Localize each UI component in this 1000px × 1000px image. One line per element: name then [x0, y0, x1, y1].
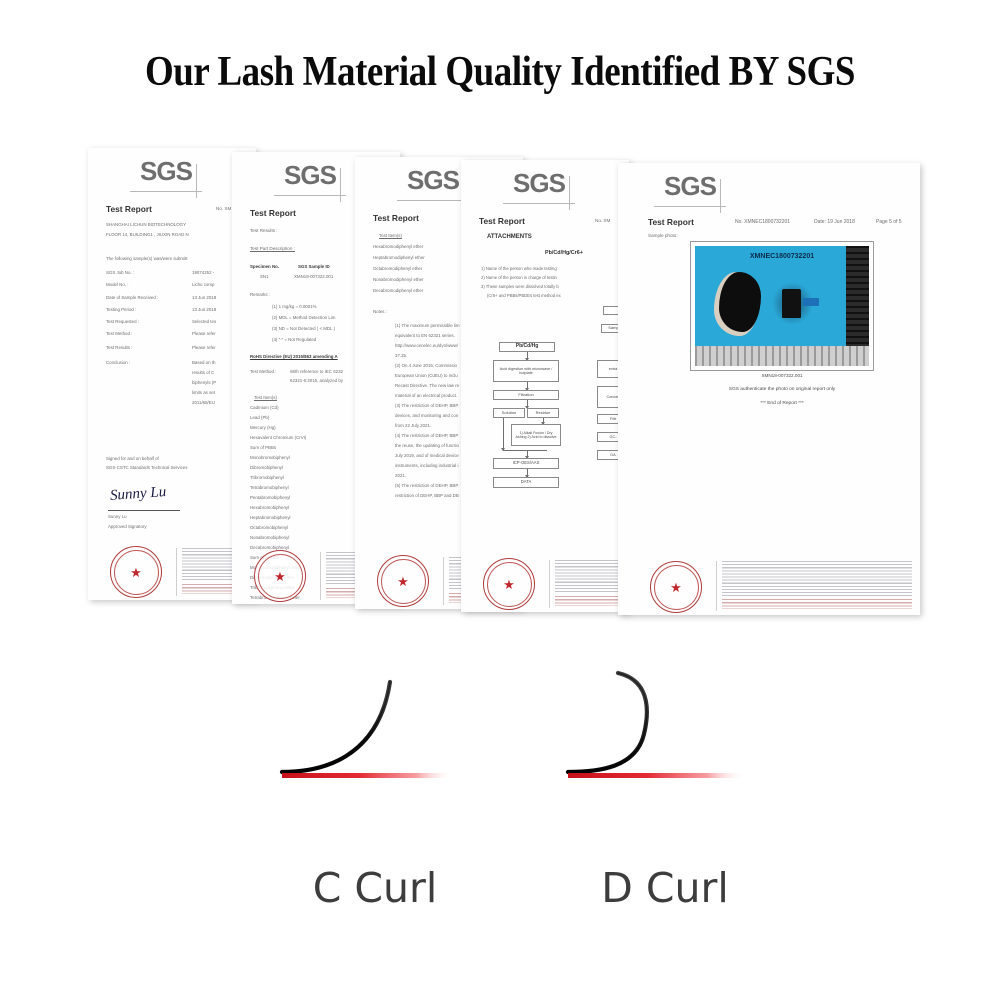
- legal-footer-text: [722, 561, 912, 597]
- test-item: Nonabromodiphenyl ether: [373, 277, 424, 282]
- test-item: Heptabromodiphenyl ether: [373, 255, 425, 260]
- certification-stamp: ★: [650, 561, 702, 613]
- results-label: Test Results :: [250, 228, 278, 233]
- flow-node-icp-oes-aas: ICP-OES/AAS: [493, 458, 559, 469]
- field-label-3: Testing Period :: [106, 307, 136, 312]
- signed-line-1: Signed for and on behalf of: [106, 456, 159, 461]
- sample-photo-frame[interactable]: XMNEC1800732201: [690, 241, 874, 371]
- report-title: Test Report: [648, 217, 694, 227]
- test-item: Tetrabromobiphenyl: [250, 485, 289, 490]
- notes-label: Notes :: [373, 309, 387, 314]
- flow-node-alkali-fusion: 1) Alkali Fusion / Dry Ashing 2) Acid to…: [511, 424, 561, 446]
- sgs-logo-text: SGS: [664, 173, 716, 199]
- note-line: http://www.cenelec.eu/dyn/www/: [395, 343, 458, 348]
- report-number: No. XM: [216, 206, 231, 211]
- field-label-5: Test Method :: [106, 331, 132, 336]
- remark-3: (4) "-" = Not Regulated: [272, 337, 316, 342]
- remark-2: (3) ND = Not Detected ( < MDL ): [272, 326, 335, 331]
- note-line: (4) The restriction of DEHP, BBP: [395, 433, 458, 438]
- certification-stamp: ★: [483, 558, 535, 610]
- conclusion-line-0: results of C: [192, 370, 214, 375]
- field-value-6: Please refer: [192, 345, 216, 350]
- field-value-3: 13 Jun 2018: [192, 307, 216, 312]
- field-value-5: Please refer: [192, 331, 216, 336]
- note-line: 2021.: [395, 473, 406, 478]
- legal-footer-contact: [555, 596, 627, 606]
- test-item: Lead (Pb): [250, 415, 269, 420]
- table-header-1: SGS Sample ID: [298, 264, 330, 269]
- note-line: material of an electrical product.: [395, 393, 457, 398]
- certification-stamp: ★: [110, 546, 162, 598]
- note-line: European Union (OJEU) to inclu: [395, 373, 458, 378]
- note-line: 3) These samples were dissolved totally …: [481, 284, 559, 289]
- table-header-0: Specimen No.: [250, 264, 279, 269]
- lash-tray-sample: [719, 272, 761, 332]
- report-title: Test Report: [250, 208, 296, 218]
- test-items-label: Test Item(s): [379, 233, 402, 238]
- field-label-4: Test Requested :: [106, 319, 139, 324]
- field-label-1: Model No. :: [106, 282, 128, 287]
- test-item: Heptabromobiphenyl: [250, 515, 291, 520]
- legal-footer-text: [555, 560, 627, 594]
- c-curl-lash-svg: [250, 668, 500, 868]
- note-line: 37.25.: [395, 353, 407, 358]
- note-line: the reuse, the updating of functio: [395, 443, 459, 448]
- note-line: 1) Name of the person who made testing: [481, 266, 557, 271]
- test-item: Octabromodiphenyl ether: [373, 266, 422, 271]
- flow-node-data: DATA: [493, 477, 559, 488]
- d-curl-label: D Curl: [540, 864, 790, 912]
- note-line: (1) The maximum permissible lim: [395, 323, 460, 328]
- field-value-4: Selected tes: [192, 319, 216, 324]
- test-item: Decabromodiphenyl ether: [373, 288, 423, 293]
- note-line: from 22 July 2021.: [395, 423, 431, 428]
- c-curl-label: C Curl: [250, 864, 500, 912]
- remark-0: (1) 1 mg/kg = 0.0001%: [272, 304, 317, 309]
- conclusion-line-3: 2011/65/EU: [192, 400, 215, 405]
- company-line-2: FLOOR 14, BUILDING1 , JIUXIN ROAD N: [106, 232, 189, 237]
- sgs-logo-text: SGS: [407, 167, 459, 193]
- test-item: Pentabromobiphenyl: [250, 495, 290, 500]
- end-of-report-note: *** End of Report ***: [674, 401, 890, 406]
- note-line: Recast Directive. The new law re: [395, 383, 459, 388]
- test-item: Dibromobiphenyl: [250, 465, 283, 470]
- sgs-logo-text: SGS: [140, 158, 192, 184]
- d-curl-lash-svg: [540, 668, 790, 868]
- note-line: (5) The restriction of DEHP, BBP: [395, 483, 458, 488]
- sample-photo-label: Sample photo:: [648, 233, 678, 238]
- sample-photo-caption: XMN18-007322.001: [690, 373, 874, 378]
- signature: Sunny Lu: [109, 484, 166, 505]
- field-value-2: 13 Jun 2018: [192, 295, 216, 300]
- report-title: Test Report: [479, 216, 525, 226]
- note-line: devices, and monitoring and con: [395, 413, 458, 418]
- test-items-label: Test Item(s): [254, 395, 277, 400]
- signatory-role: Approved Signatory: [108, 524, 147, 529]
- remarks-label: Remarks :: [250, 292, 270, 297]
- conclusion-line-1: biphenyls (P: [192, 380, 216, 385]
- note-line: instruments, including industrial i: [395, 463, 458, 468]
- attachments-label: ATTACHMENTS: [487, 234, 532, 240]
- conclusion-line-2: limits as set: [192, 390, 215, 395]
- page-number: Page 5 of 5: [876, 219, 902, 225]
- test-item: Tribromobiphenyl: [250, 475, 284, 480]
- analysis-title: Pb/Cd/Hg/Cr6+: [545, 250, 583, 256]
- test-item: Sum of PBBs: [250, 445, 276, 450]
- test-item: Hexavalent Chromium (CrVI): [250, 435, 306, 440]
- certificate-page-4[interactable]: SGS Test Report No. XM ATTACHMENTS Pb/Cd…: [461, 160, 629, 612]
- method-line-2: 62321-6:2015, analyzed by: [290, 378, 343, 383]
- d-curl-diagram: D Curl: [540, 668, 790, 930]
- report-title: Test Report: [373, 213, 419, 223]
- report-number: No. XMNEC1800732201: [735, 219, 790, 225]
- note-line: 2) Name of the person in charge of testi…: [481, 275, 557, 280]
- sgs-logo-text: SGS: [284, 162, 336, 188]
- report-number: No. XM: [595, 218, 610, 223]
- c-curl-diagram: C Curl: [250, 668, 500, 930]
- field-value-1: Lichu comp: [192, 282, 214, 287]
- field-value-7: Based on th: [192, 360, 215, 365]
- test-item: Octabromobiphenyl: [250, 525, 288, 530]
- method-line-1: With reference to IEC 6232: [290, 369, 343, 374]
- flow-node-filtration: Filtration: [493, 390, 559, 400]
- test-item: Nonabromobiphenyl: [250, 535, 289, 540]
- rohs-directive: RoHS Directive (EU) 2015/863 amending A: [250, 354, 338, 359]
- field-value-0: 19074252 -: [192, 270, 214, 275]
- sample-photo-image: XMNEC1800732201: [695, 246, 869, 366]
- note-line: restriction of DEHP, BBP and DB: [395, 493, 459, 498]
- method-label: Test Method :: [250, 369, 276, 374]
- flow-node-solution: Solution: [493, 408, 525, 418]
- certification-stamp: ★: [377, 555, 429, 607]
- photo-auth-note: SGS authenticate the photo on original r…: [674, 387, 890, 392]
- ruler-horizontal: [695, 346, 869, 366]
- remark-1: (2) MDL = Method Detection Lim: [272, 315, 335, 320]
- test-item: Cadmium (Cd): [250, 405, 279, 410]
- legal-footer-contact: [722, 599, 912, 609]
- report-title: Test Report: [106, 204, 152, 214]
- test-item: Hexabromodiphenyl ether: [373, 244, 423, 249]
- sample-photo-code: XMNEC1800732201: [695, 253, 869, 260]
- note-line: (3) The restriction of DEHP, BBP: [395, 403, 458, 408]
- table-cell-0: SN1: [260, 274, 269, 279]
- flow-header-pb-cd-hg: Pb/Cd/Hg: [499, 342, 555, 352]
- sgs-logo-text: SGS: [513, 170, 565, 196]
- company-line-1: SHANGHAI LICHUN BIOTECHNOLOGY: [106, 222, 186, 227]
- signed-line-2: SGS-CSTC Standards Technical Services: [106, 465, 187, 470]
- flow-node-residue: Residue: [527, 408, 559, 418]
- note-line: equivalent to EN 62321 series.: [395, 333, 455, 338]
- note-line: July 2019, and of medical device: [395, 453, 459, 458]
- brand-tag: [803, 298, 819, 306]
- intro-text: The following sample(s) was/were submitt: [106, 256, 188, 261]
- certificate-page-1[interactable]: SGS Test Report No. XM SHANGHAI LICHUN B…: [88, 148, 256, 600]
- signatory-name: Sunny Lu: [108, 514, 127, 519]
- field-label-2: Date of Sample Received :: [106, 295, 158, 300]
- note-line: (2) On 4 June 2015, Commissio: [395, 363, 457, 368]
- field-label-7: Conclusion :: [106, 360, 130, 365]
- report-date: Date: 19 Jun 2018: [814, 219, 855, 225]
- field-label-0: SGS Job No. :: [106, 270, 134, 275]
- test-item: Mercury (Hg): [250, 425, 276, 430]
- field-label-6: Test Results :: [106, 345, 132, 350]
- lash-strip-sample: [782, 289, 801, 318]
- flow-node-acid-digestion: Acid digestion with microwave / hotplate: [493, 360, 559, 382]
- table-cell-1: XMN18-007322.001: [294, 274, 333, 279]
- test-item: Monobromobiphenyl: [250, 455, 290, 460]
- part-description-label: Test Part Description :: [250, 246, 295, 251]
- test-item: Hexabromobiphenyl: [250, 505, 289, 510]
- certificate-stack: SGS Test Report No. XM SHANGHAI LICHUN B…: [0, 0, 1000, 640]
- certificate-page-5[interactable]: SGS Test Report No. XMNEC1800732201 Date…: [618, 163, 920, 615]
- note-line: (Cr6+ and PBBs/PBDEs test method ex: [487, 293, 561, 298]
- certification-stamp: ★: [254, 550, 306, 602]
